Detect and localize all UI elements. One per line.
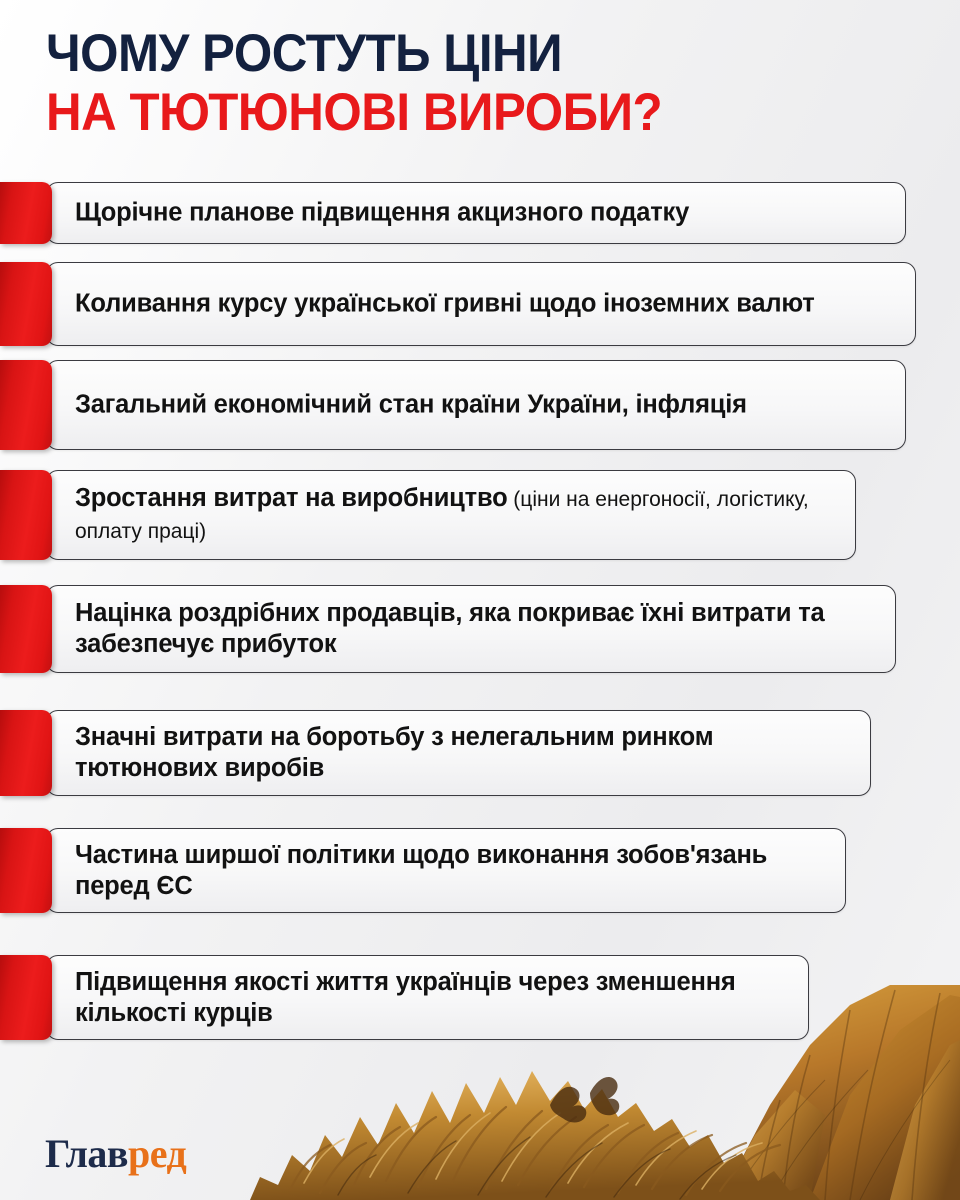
reason-text: Коливання курсу української гривні щодо … xyxy=(75,289,901,320)
reason-card: Значні витрати на боротьбу з нелегальним… xyxy=(46,710,871,796)
tobacco-leaf-creases xyxy=(730,1060,950,1200)
red-accent-tab xyxy=(0,828,52,913)
reason-text-main: Зростання витрат на виробництво xyxy=(75,484,507,512)
reason-card: Загальний економічний стан країни Україн… xyxy=(46,360,906,450)
red-accent-tab xyxy=(0,360,52,450)
infographic-page: ЧОМУ РОСТУТЬ ЦІНИ НА ТЮТЮНОВІ ВИРОБИ? Що… xyxy=(0,0,960,1200)
red-accent-tab xyxy=(0,585,52,673)
red-accent-tab xyxy=(0,470,52,560)
reason-card: Коливання курсу української гривні щодо … xyxy=(46,262,916,346)
reason-text: Зростання витрат на виробництво (ціни на… xyxy=(75,483,841,547)
reasons-list: Щорічне планове підвищення акцизного под… xyxy=(0,0,960,1060)
red-accent-tab xyxy=(0,182,52,244)
logo-part-red: ред xyxy=(128,1131,186,1176)
tobacco-shred-highlights xyxy=(304,1113,762,1189)
reason-card: Націнка роздрібних продавців, яка покрив… xyxy=(46,585,896,673)
reason-card: Щорічне планове підвищення акцизного под… xyxy=(46,182,906,244)
tobacco-leaf-large-3 xyxy=(890,1040,960,1200)
reason-text: Щорічне планове підвищення акцизного под… xyxy=(75,198,891,229)
reason-card: Зростання витрат на виробництво (ціни на… xyxy=(46,470,856,560)
reason-text: Націнка роздрібних продавців, яка покрив… xyxy=(75,598,881,660)
reason-text: Частина ширшої політики щодо виконання з… xyxy=(75,840,831,902)
site-logo[interactable]: Главред xyxy=(45,1133,186,1175)
tobacco-leaf-mid xyxy=(720,1090,825,1200)
red-accent-tab xyxy=(0,955,52,1040)
reason-card: Підвищення якості життя українців через … xyxy=(46,955,809,1040)
tobacco-dark-curls xyxy=(550,1077,619,1122)
tobacco-shreds-heap xyxy=(250,1071,820,1200)
red-accent-tab xyxy=(0,710,52,796)
tobacco-shred-shadows xyxy=(338,1137,736,1199)
reason-text: Значні витрати на боротьбу з нелегальним… xyxy=(75,722,856,784)
red-accent-tab xyxy=(0,262,52,346)
tobacco-shred-strands xyxy=(290,1107,780,1195)
logo-part-glav: Глав xyxy=(45,1131,128,1176)
reason-card: Частина ширшої політики щодо виконання з… xyxy=(46,828,846,913)
reason-text: Підвищення якості життя українців через … xyxy=(75,967,794,1029)
reason-text: Загальний економічний стан країни Україн… xyxy=(75,390,891,421)
